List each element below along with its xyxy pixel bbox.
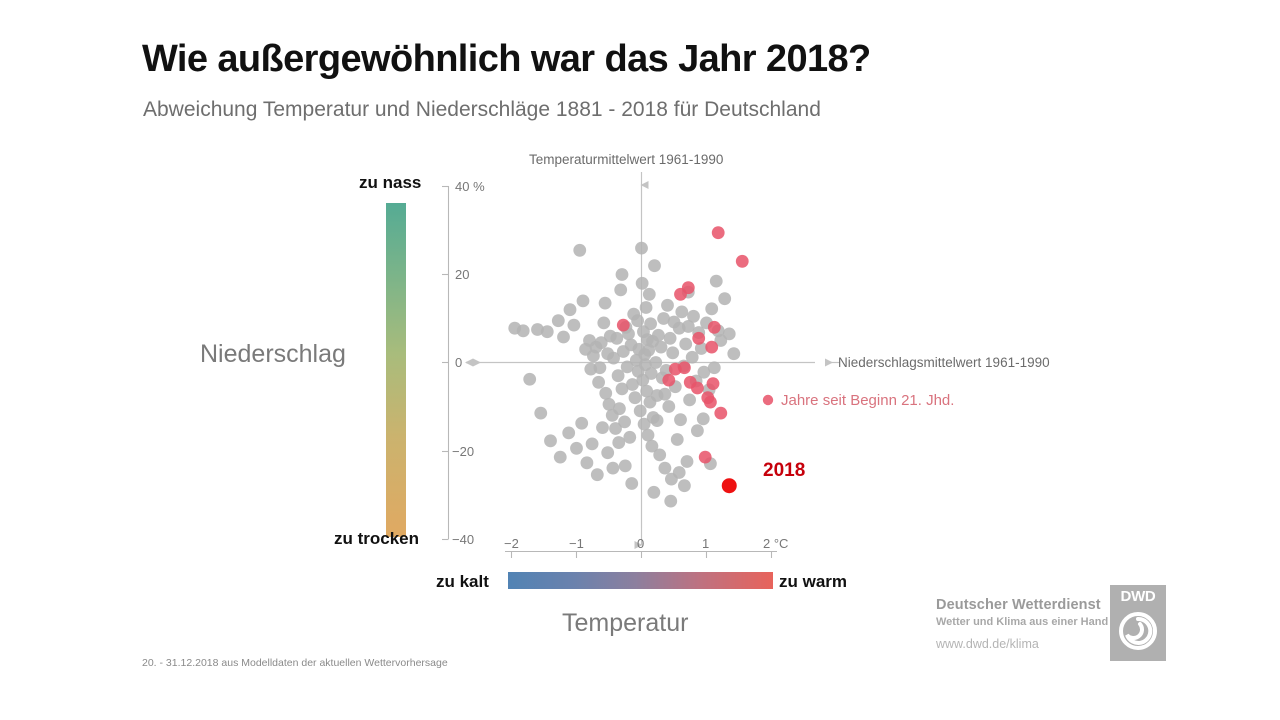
legend-dot-recent [763, 395, 773, 405]
data-point [635, 242, 648, 255]
data-point [640, 301, 653, 314]
data-point [699, 451, 712, 464]
data-point [552, 314, 565, 327]
data-point [710, 275, 723, 288]
data-point [674, 413, 687, 426]
data-point [616, 268, 629, 281]
data-point [664, 332, 677, 345]
data-point [662, 400, 675, 413]
data-point [736, 255, 749, 268]
data-point [636, 277, 649, 290]
data-point [647, 486, 660, 499]
data-point [697, 412, 710, 425]
data-point [575, 417, 588, 430]
data-point [541, 325, 554, 338]
x-tick-0: 0 [637, 537, 644, 550]
label-zu-warm: zu warm [779, 573, 847, 590]
data-point [708, 361, 721, 374]
data-point [623, 431, 636, 444]
data-points-layer [508, 226, 748, 507]
data-point [607, 462, 620, 475]
data-point [592, 376, 605, 389]
data-point [586, 438, 599, 451]
data-point [610, 332, 623, 345]
data-point [617, 319, 630, 332]
data-point [659, 388, 672, 401]
data-point [649, 356, 662, 369]
data-point [612, 436, 625, 449]
dwd-name: Deutscher Wetterdienst [936, 597, 1108, 613]
data-point [707, 377, 720, 390]
data-point [705, 341, 718, 354]
data-point [714, 407, 727, 420]
data-point [554, 451, 567, 464]
x-tick-1: 1 [702, 537, 709, 550]
data-point [671, 433, 684, 446]
data-point [564, 303, 577, 316]
data-point [712, 226, 725, 239]
dwd-claim: Wetter und Klima aus einer Hand [936, 616, 1108, 628]
precipitation-gradient-bar [386, 203, 406, 537]
data-point [562, 427, 575, 440]
data-point [577, 295, 590, 308]
data-point [653, 449, 666, 462]
data-point [599, 387, 612, 400]
data-point [645, 367, 658, 380]
data-point [601, 446, 614, 459]
data-point [573, 244, 586, 257]
dwd-branding: Deutscher Wetterdienst Wetter und Klima … [936, 597, 1108, 651]
footnote: 20. - 31.12.2018 aus Modelldaten der akt… [142, 657, 448, 669]
y-tick-40: 40 % [455, 180, 485, 193]
temperature-gradient-bar [508, 572, 773, 589]
data-point [678, 479, 691, 492]
data-point [659, 462, 672, 475]
data-point [599, 297, 612, 310]
data-point [651, 414, 664, 427]
data-point [581, 456, 594, 469]
data-point [704, 396, 717, 409]
label-2018: 2018 [763, 461, 805, 480]
data-point [614, 284, 627, 297]
data-point [661, 299, 674, 312]
data-point [570, 442, 583, 455]
data-point [708, 321, 721, 334]
y-tick-20: 20 [455, 268, 469, 281]
x-tick-minus2: −2 [504, 537, 519, 550]
data-point [591, 468, 604, 481]
label-zu-trocken: zu trocken [334, 530, 419, 547]
data-point [613, 402, 626, 415]
data-point [557, 331, 570, 344]
x-axis [505, 552, 777, 559]
data-point [678, 361, 691, 374]
data-point [718, 292, 731, 305]
data-point [642, 429, 655, 442]
data-point [523, 373, 536, 386]
legend-label-recent-years: Jahre seit Beginn 21. Jhd. [781, 393, 954, 408]
data-point [597, 317, 610, 330]
data-point [664, 495, 677, 508]
label-zu-kalt: zu kalt [436, 573, 489, 590]
data-point [679, 338, 692, 351]
data-point [618, 416, 631, 429]
data-point [596, 421, 609, 434]
x-tick-minus1: −1 [569, 537, 584, 550]
dwd-url[interactable]: www.dwd.de/klima [936, 637, 1108, 651]
data-point [644, 317, 657, 330]
data-point [619, 460, 632, 473]
data-point [643, 288, 656, 301]
data-point [681, 455, 694, 468]
axis-title-niederschlag: Niederschlag [200, 342, 346, 367]
data-point [544, 434, 557, 447]
data-point [723, 328, 736, 341]
data-point [625, 477, 638, 490]
precipitation-mean-note: Niederschlagsmittelwert 1961-1990 [838, 356, 1050, 370]
data-point [675, 306, 688, 319]
data-point [652, 329, 665, 342]
data-point [691, 382, 704, 395]
dwd-logo-text: DWD [1114, 588, 1162, 605]
data-point [568, 319, 581, 332]
data-point [648, 259, 661, 272]
data-point [631, 314, 644, 327]
data-point [705, 302, 718, 315]
axis-title-temperatur: Temperatur [562, 611, 688, 636]
data-point [692, 332, 705, 345]
data-point [687, 310, 700, 323]
data-point [629, 391, 642, 404]
data-point [662, 374, 675, 387]
label-zu-nass: zu nass [359, 174, 421, 191]
y-tick-minus20: −20 [452, 445, 474, 458]
data-point [634, 405, 647, 418]
data-point [594, 361, 607, 374]
data-point [517, 324, 530, 337]
data-point [722, 478, 737, 493]
y-tick-0: 0 [455, 356, 462, 369]
temperature-mean-note: Temperaturmittelwert 1961-1990 [529, 153, 723, 167]
data-point [674, 288, 687, 301]
data-point [683, 394, 696, 407]
data-point [727, 347, 740, 360]
data-point [691, 424, 704, 437]
x-tick-2: 2 °C [763, 537, 788, 550]
data-point [534, 407, 547, 420]
y-tick-minus40: −40 [452, 533, 474, 546]
data-point [666, 346, 679, 359]
y-axis [442, 186, 449, 540]
data-point [673, 466, 686, 479]
